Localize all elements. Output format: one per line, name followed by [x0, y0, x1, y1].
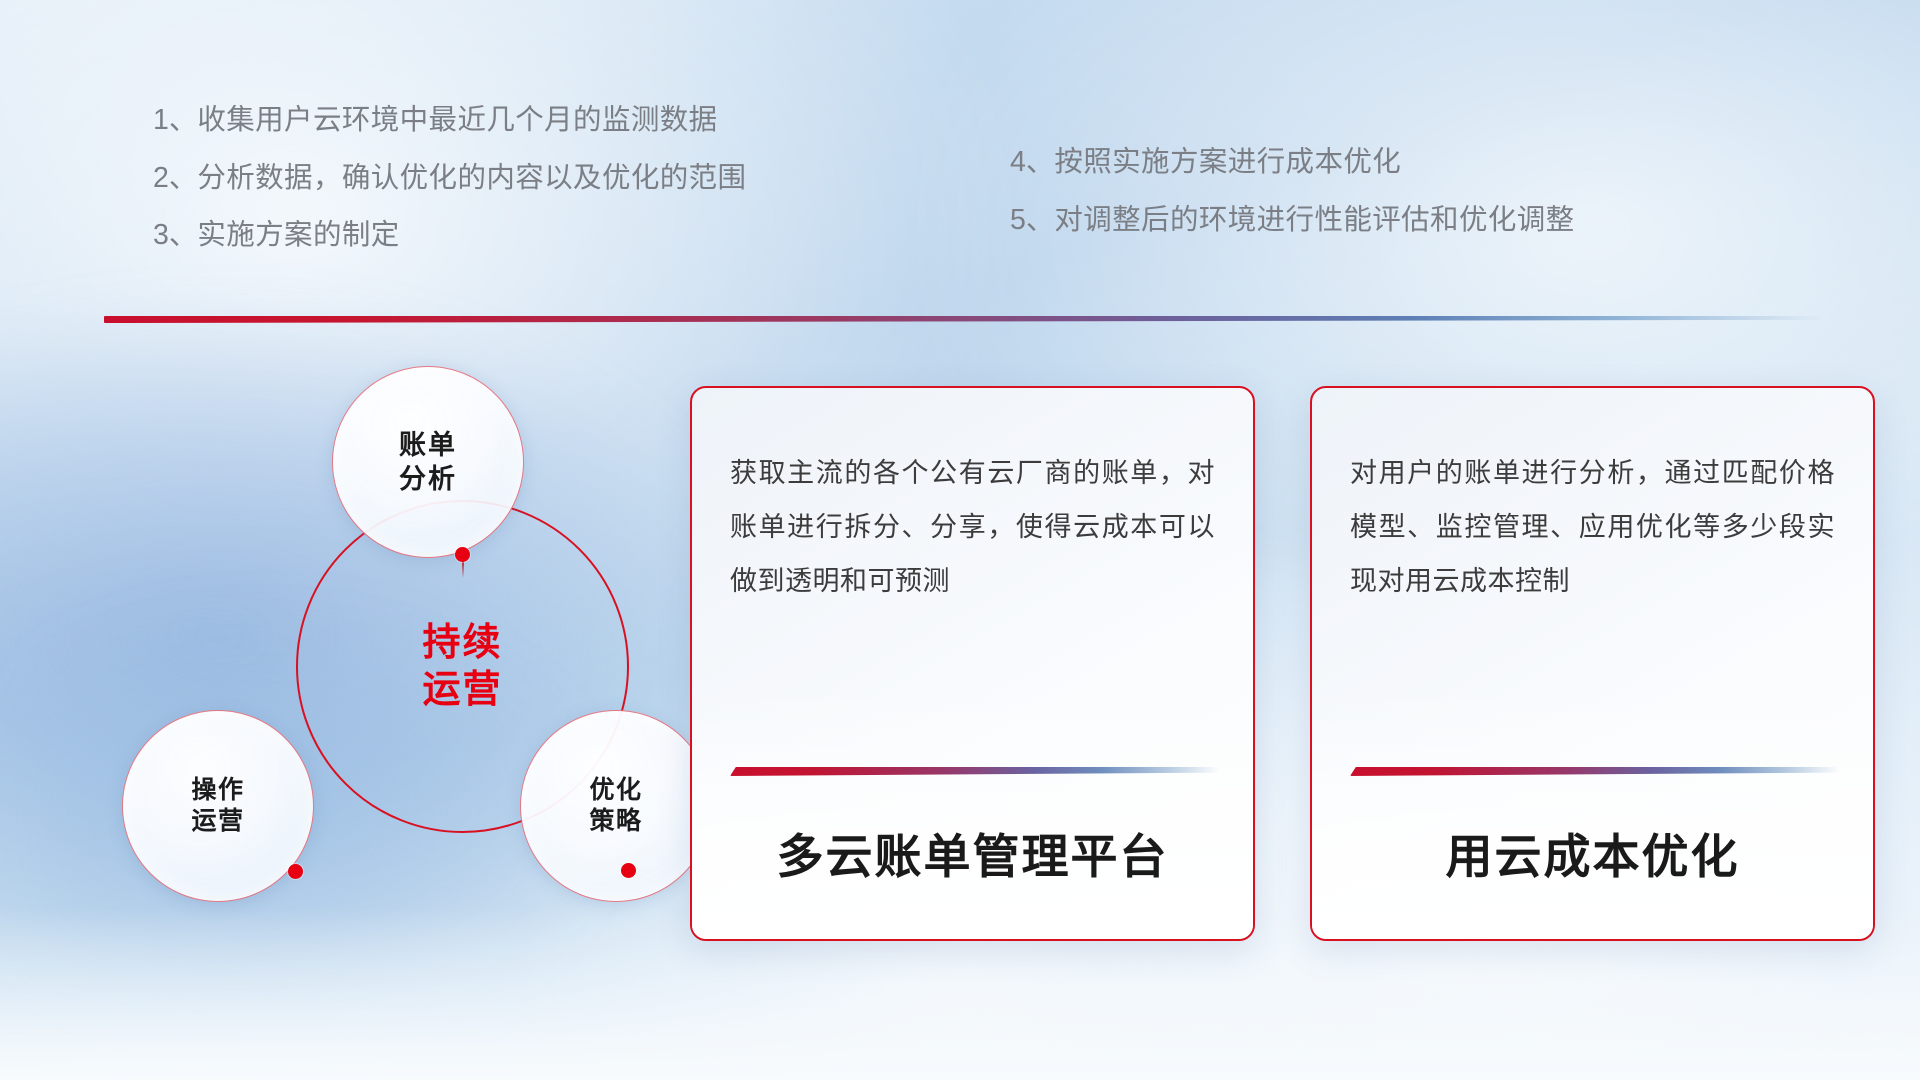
process-step-number: 2、 — [153, 162, 197, 194]
process-step-item: 2、分析数据，确认优化的内容以及优化的范围 — [153, 164, 746, 193]
process-step-number: 5、 — [1010, 204, 1054, 236]
venn-bubble-optimization-strategy[interactable]: 优化 策略 — [520, 710, 712, 902]
venn-bubble-label-line2: 策略 — [589, 806, 642, 838]
process-step-text: 对调整后的环境进行性能评估和优化调整 — [1054, 204, 1574, 236]
process-step-text: 分析数据，确认优化的内容以及优化的范围 — [197, 162, 746, 194]
venn-bubble-label-line1: 优化 — [589, 775, 642, 807]
feature-card-body: 获取主流的各个公有云厂商的账单，对账单进行拆分、分享，使得云成本可以做到透明和可… — [730, 446, 1215, 608]
process-step-text: 实施方案的制定 — [197, 219, 399, 251]
process-step-number: 3、 — [153, 219, 197, 251]
venn-diagram: 持续 运营 账单 分析 操作 运营 优化 策略 — [100, 350, 660, 960]
venn-bubble-bill-analysis[interactable]: 账单 分析 — [332, 366, 524, 558]
process-step-number: 4、 — [1010, 146, 1054, 178]
process-step-item: 4、按照实施方案进行成本优化 — [1010, 148, 1575, 177]
venn-node-dot-top — [455, 547, 470, 562]
feature-card-cloud-cost-optimization[interactable]: 对用户的账单进行分析，通过匹配价格模型、监控管理、应用优化等多少段实现对用云成本… — [1310, 386, 1875, 941]
feature-card-title: 用云成本优化 — [1312, 818, 1873, 887]
feature-card-divider — [730, 767, 1219, 776]
process-step-text: 收集用户云环境中最近几个月的监测数据 — [197, 104, 717, 136]
venn-bubble-label-line2: 分析 — [399, 462, 457, 496]
process-steps-right-column: 4、按照实施方案进行成本优化 5、对调整后的环境进行性能评估和优化调整 — [1010, 148, 1575, 263]
feature-card-divider — [1350, 767, 1839, 776]
venn-bubble-label-line1: 操作 — [191, 775, 244, 807]
venn-bubble-operations[interactable]: 操作 运营 — [122, 710, 314, 902]
venn-center-label-line2: 运营 — [422, 667, 502, 713]
process-step-number: 1、 — [153, 104, 197, 136]
feature-card-title: 多云账单管理平台 — [692, 818, 1253, 887]
process-steps-left-column: 1、收集用户云环境中最近几个月的监测数据 2、分析数据，确认优化的内容以及优化的… — [153, 106, 746, 279]
venn-node-dot-bottom-right — [621, 863, 636, 878]
process-step-text: 按照实施方案进行成本优化 — [1054, 146, 1401, 178]
feature-card-multi-cloud-billing[interactable]: 获取主流的各个公有云厂商的账单，对账单进行拆分、分享，使得云成本可以做到透明和可… — [690, 386, 1255, 941]
feature-card-body: 对用户的账单进行分析，通过匹配价格模型、监控管理、应用优化等多少段实现对用云成本… — [1350, 446, 1835, 608]
venn-bubble-label-line1: 账单 — [399, 428, 457, 462]
process-step-item: 5、对调整后的环境进行性能评估和优化调整 — [1010, 206, 1575, 235]
venn-center-label-line1: 持续 — [422, 620, 502, 666]
process-step-item: 3、实施方案的制定 — [153, 221, 746, 250]
venn-connector-tick — [462, 560, 464, 578]
process-step-item: 1、收集用户云环境中最近几个月的监测数据 — [153, 106, 746, 135]
venn-bubble-label-line2: 运营 — [191, 806, 244, 838]
venn-node-dot-bottom-left — [288, 864, 303, 879]
feature-cards-section: 获取主流的各个公有云厂商的账单，对账单进行拆分、分享，使得云成本可以做到透明和可… — [690, 386, 1875, 941]
